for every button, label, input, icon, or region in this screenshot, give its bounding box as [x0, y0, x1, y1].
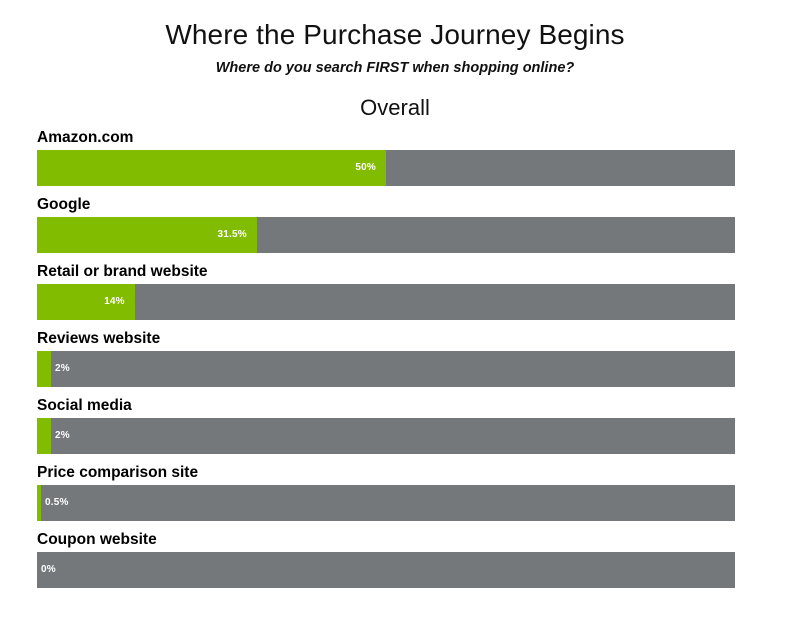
bar-category-label: Amazon.com [37, 128, 133, 148]
bar-track: 14% [37, 284, 735, 320]
bar-category-label: Social media [37, 396, 132, 416]
bar-row: Reviews website2% [37, 329, 735, 396]
bar-row: Google31.5% [37, 195, 735, 262]
bar-fill [37, 351, 51, 387]
chart-subtitle: Where do you search FIRST when shopping … [0, 58, 790, 78]
bar-value-label: 2% [55, 351, 70, 387]
bar-category-label: Google [37, 195, 90, 215]
bar-track: 0% [37, 552, 735, 588]
bar-row: Amazon.com50% [37, 128, 735, 195]
chart-segment-heading: Overall [0, 94, 790, 122]
bar-track: 2% [37, 418, 735, 454]
chart-title: Where the Purchase Journey Begins [0, 18, 790, 52]
bar-row: Coupon website0% [37, 530, 735, 597]
bar-category-label: Coupon website [37, 530, 157, 550]
bar-track: 31.5% [37, 217, 735, 253]
bar-value-label: 0% [41, 552, 56, 588]
bar-track: 50% [37, 150, 735, 186]
bar-category-label: Reviews website [37, 329, 160, 349]
bar-track: 2% [37, 351, 735, 387]
bar-row: Price comparison site0.5% [37, 463, 735, 530]
bar-list: Amazon.com50%Google31.5%Retail or brand … [37, 128, 735, 597]
bar-category-label: Retail or brand website [37, 262, 208, 282]
bar-value-label: 0.5% [45, 485, 69, 521]
chart-container: Where the Purchase Journey Begins Where … [0, 0, 790, 621]
bar-value-label: 31.5% [199, 217, 247, 253]
bar-fill [37, 485, 41, 521]
bar-row: Retail or brand website14% [37, 262, 735, 329]
bar-category-label: Price comparison site [37, 463, 198, 483]
bar-fill [37, 418, 51, 454]
bar-value-label: 14% [77, 284, 125, 320]
bar-row: Social media2% [37, 396, 735, 463]
bar-track: 0.5% [37, 485, 735, 521]
bar-value-label: 50% [328, 150, 376, 186]
bar-value-label: 2% [55, 418, 70, 454]
